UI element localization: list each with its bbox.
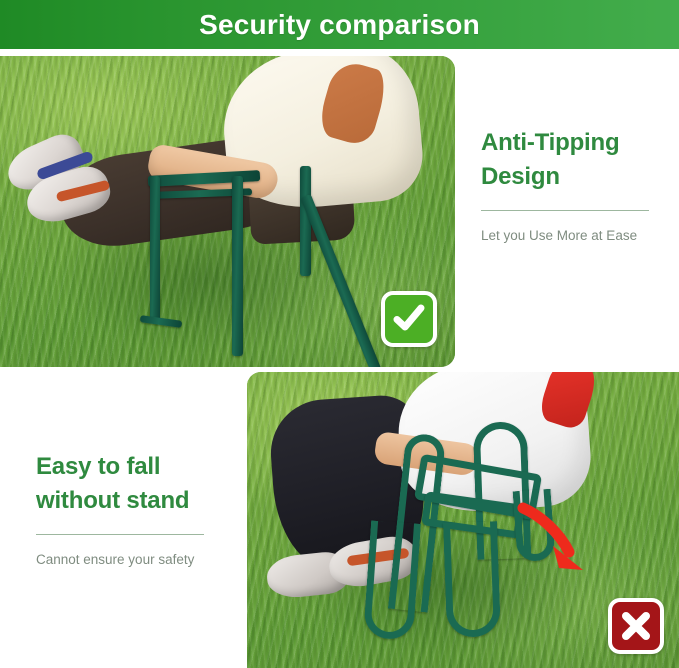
good-example-text: Anti-Tipping Design Let you Use More at …: [481, 126, 667, 246]
good-example-photo: [0, 56, 455, 367]
tipping-direction-arrow-icon: [515, 498, 595, 576]
check-icon: [392, 302, 426, 336]
stool-mid-leg: [232, 176, 243, 356]
bad-example-photo: [247, 372, 679, 668]
comparison-infographic: Security comparison Anti-Tipping Design: [0, 0, 679, 668]
good-headline: Anti-Tipping Design: [481, 126, 667, 194]
bad-example-text: Easy to fall without stand Cannot ensure…: [36, 450, 232, 570]
stool-rear-leg-tube: [443, 521, 501, 638]
cross-icon: [620, 610, 652, 642]
page-title: Security comparison: [199, 11, 480, 39]
cross-badge: [608, 598, 664, 654]
good-divider: [481, 210, 649, 211]
header-banner: Security comparison: [0, 0, 679, 49]
stool-front-leg-tube: [363, 520, 421, 640]
bad-divider: [36, 534, 204, 535]
good-subline: Let you Use More at Ease: [481, 227, 667, 246]
bad-subline: Cannot ensure your safety: [36, 551, 232, 570]
stool-front-leg: [150, 176, 160, 322]
check-badge: [381, 291, 437, 347]
bad-headline: Easy to fall without stand: [36, 450, 232, 518]
